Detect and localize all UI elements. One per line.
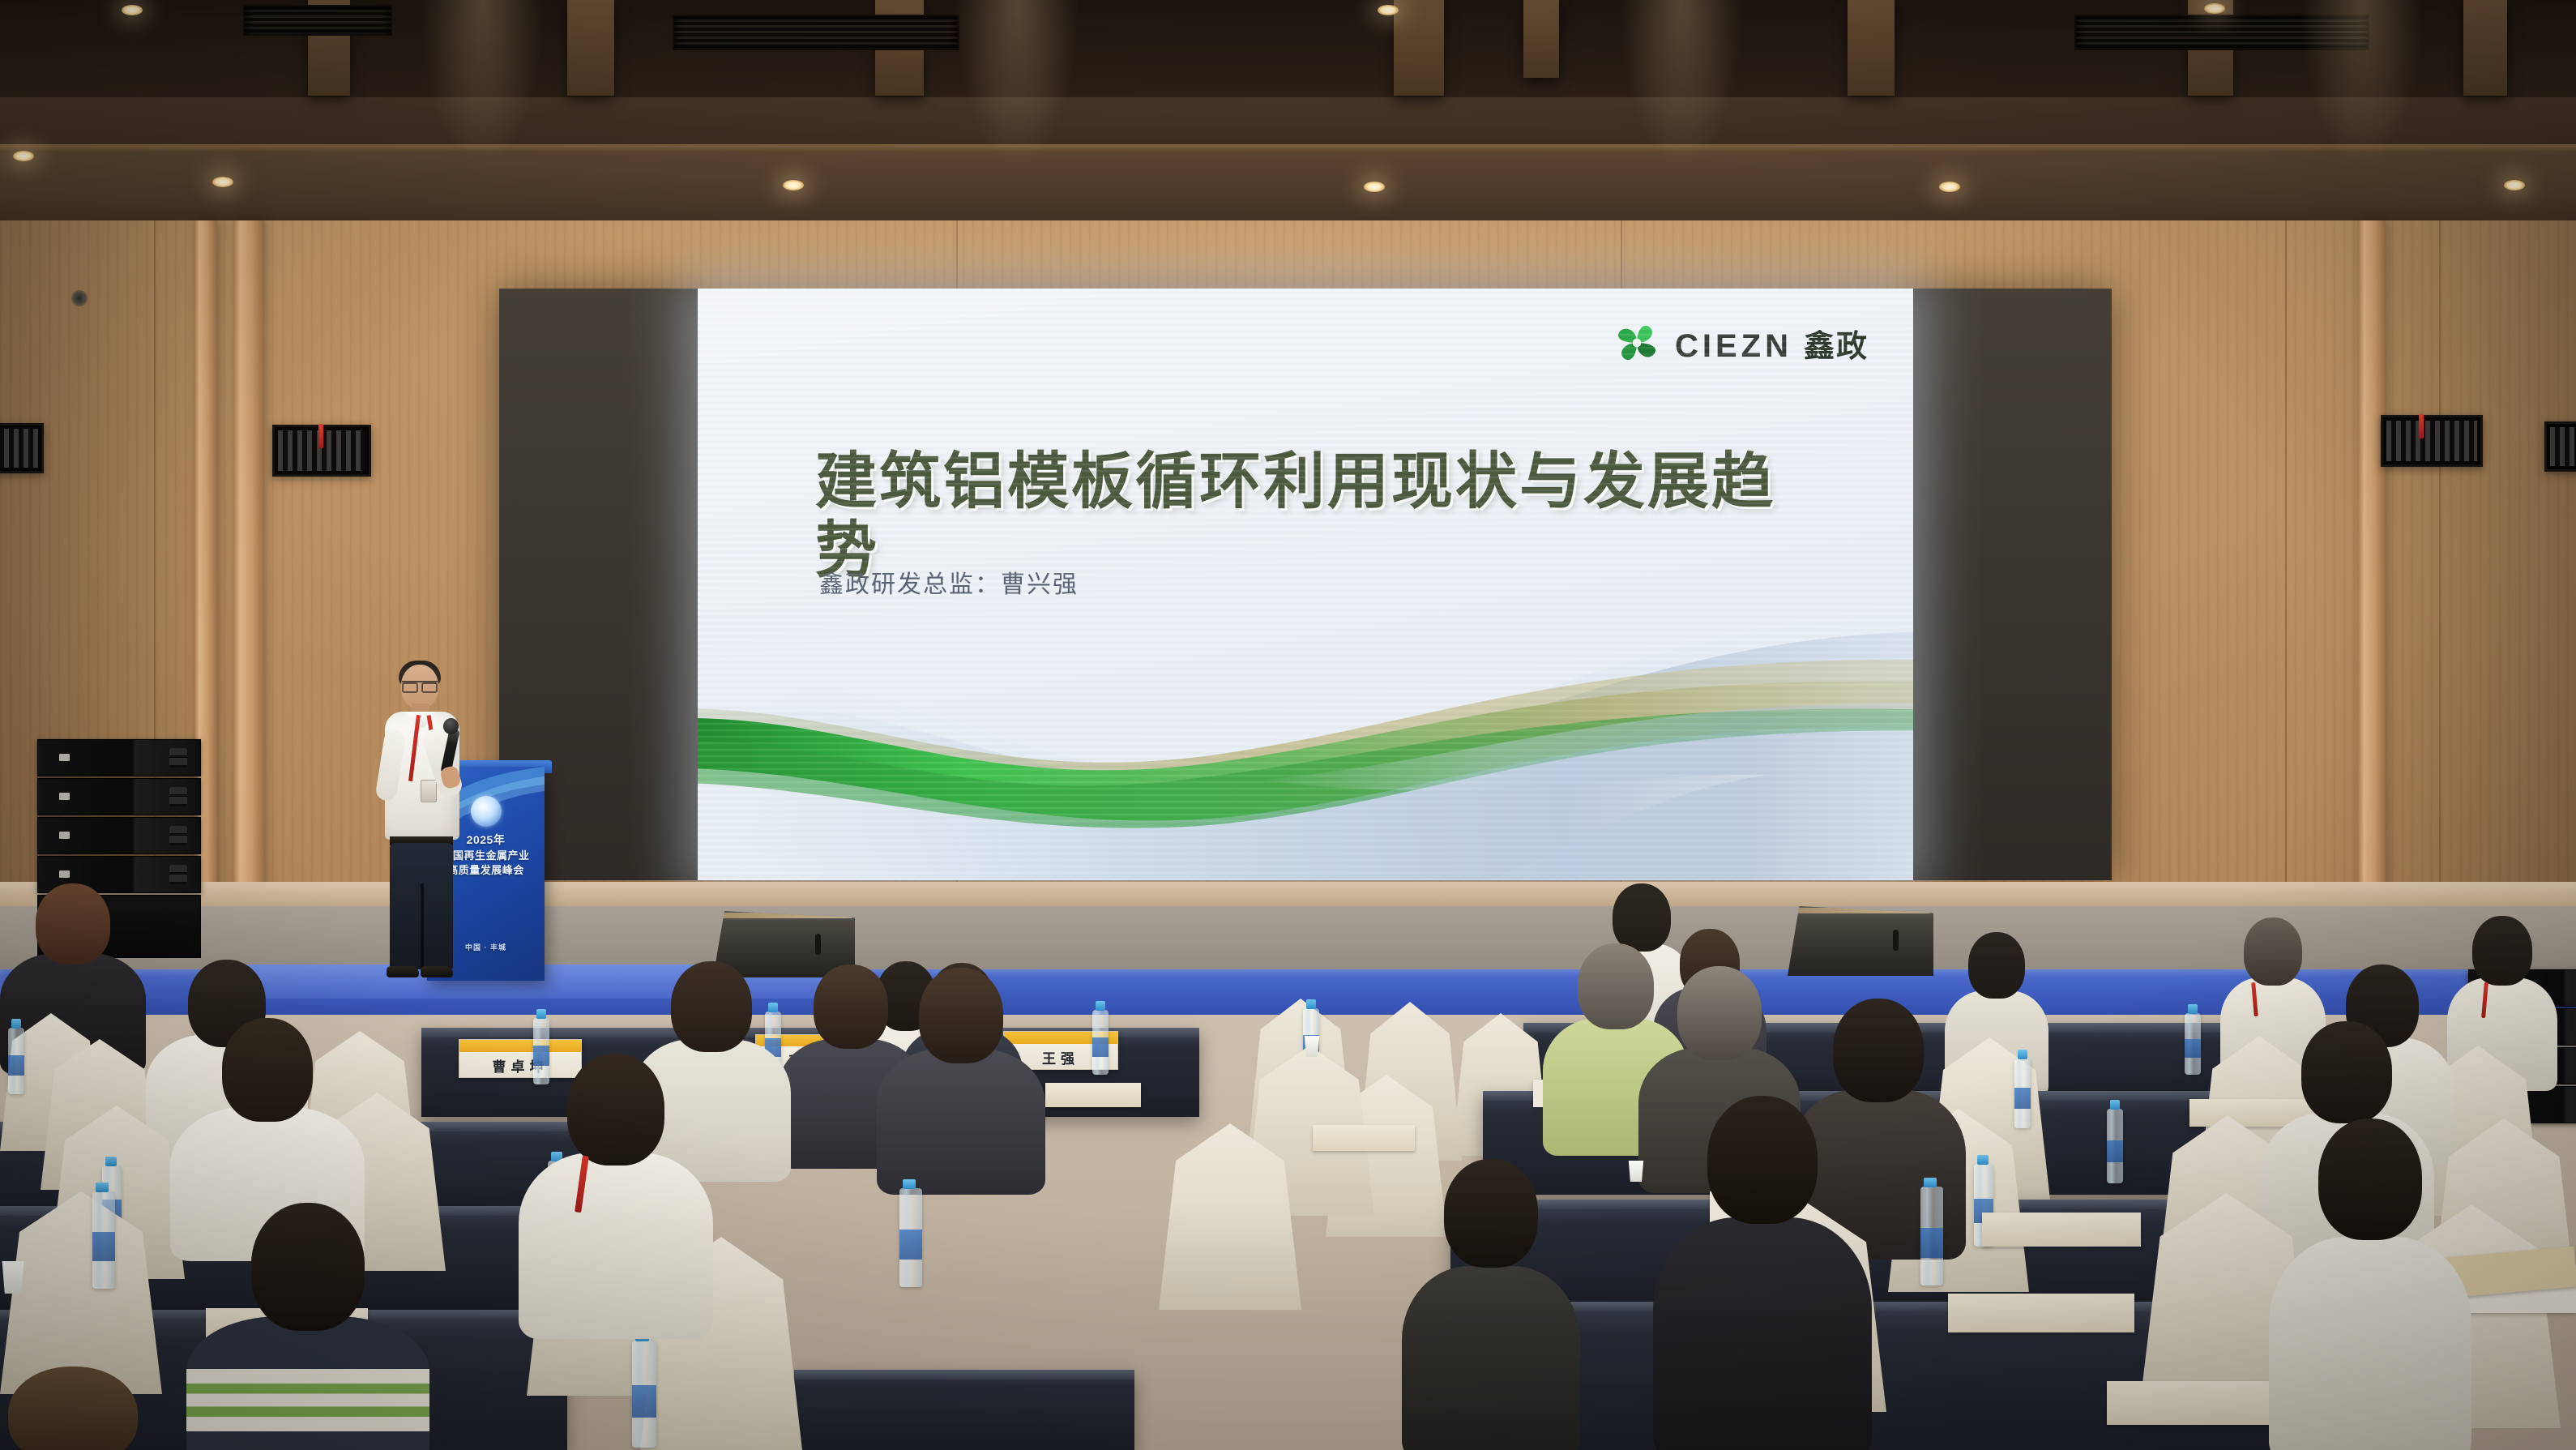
water-bottle	[2185, 1013, 2201, 1075]
ceiling-downlight	[1378, 5, 1399, 15]
water-bottle	[2107, 1109, 2123, 1183]
person-head	[2318, 1119, 2422, 1240]
vent-louvers	[2386, 421, 2477, 461]
wall-pilaster	[233, 220, 264, 926]
ceiling-beam	[1394, 0, 1444, 96]
person-torso	[877, 1049, 1045, 1195]
person-head	[1677, 966, 1762, 1060]
presenter	[377, 665, 466, 982]
audience-member	[0, 1367, 146, 1450]
presenter-glasses	[402, 681, 438, 690]
water-bottle	[1920, 1187, 1943, 1285]
notepad	[1982, 1213, 2141, 1247]
bottle-label	[1092, 1037, 1109, 1057]
line-array-module	[37, 817, 201, 854]
slide-wave-graphic	[698, 613, 1913, 880]
bottle-cap	[2018, 1050, 2027, 1059]
person-head	[1707, 1096, 1818, 1224]
person-head	[222, 1018, 313, 1122]
water-bottle	[899, 1188, 922, 1287]
person-torso	[519, 1153, 713, 1339]
ceiling-downlight	[783, 180, 804, 190]
audience-member	[1402, 1159, 1580, 1450]
person-head	[2301, 1021, 2392, 1123]
bottle-cap	[1924, 1178, 1937, 1187]
person-torso	[1402, 1266, 1580, 1450]
bottle-cap	[2110, 1100, 2120, 1110]
audience-member	[2447, 916, 2557, 1078]
notepad	[1313, 1125, 1415, 1151]
wall-ceiling-speaker-icon	[71, 290, 88, 306]
audience-table	[794, 1370, 1134, 1450]
bottle-label	[899, 1230, 922, 1260]
presenter-shoe	[421, 966, 453, 977]
monitor-handle-slot	[1893, 930, 1899, 951]
bottle-cap	[2188, 1004, 2198, 1014]
logo-latin-text: CIEZN	[1675, 328, 1792, 365]
vent-ribbon	[2419, 414, 2424, 438]
ceiling-downlight	[1364, 182, 1385, 192]
bottle-cap	[11, 1019, 21, 1029]
conference-hall-scene: CIEZN 鑫政 建筑铝模板循环利用现状与发展趋势 鑫政研发总监：曹兴强	[0, 0, 2576, 1450]
monitor-handle-slot	[815, 934, 821, 955]
vent-ribbon	[318, 424, 323, 448]
bottle-cap	[1977, 1155, 1989, 1165]
bottle-cap	[536, 1009, 546, 1019]
bottle-label	[2107, 1140, 2123, 1163]
ceiling-downlight	[212, 177, 233, 187]
bottle-cap	[105, 1157, 117, 1166]
ceiling-vent	[673, 15, 959, 50]
person-head	[36, 883, 110, 965]
ceiling-vent	[2074, 15, 2369, 50]
person-head	[1444, 1159, 1538, 1268]
placard-header-strip	[459, 1040, 581, 1052]
water-bottle	[2014, 1059, 2031, 1128]
audience-member	[1653, 1096, 1872, 1450]
wall-air-vent	[272, 425, 371, 477]
vent-louvers	[2550, 427, 2576, 466]
line-array-module	[37, 739, 201, 776]
stage-monitor-right	[1788, 906, 1933, 976]
led-screen: CIEZN 鑫政 建筑铝模板循环利用现状与发展趋势 鑫政研发总监：曹兴强	[499, 289, 2112, 880]
ceiling-beam	[1523, 0, 1559, 78]
slide-logo: CIEZN 鑫政	[1612, 318, 1869, 368]
presenter-badge	[421, 780, 437, 802]
person-head	[2472, 916, 2532, 986]
audience-member	[877, 968, 1045, 1180]
soffit	[0, 151, 2576, 232]
bottle-label	[92, 1232, 115, 1261]
notepad	[1948, 1294, 2134, 1332]
wall-panel-seam	[2285, 220, 2287, 926]
person-head	[1968, 932, 2025, 999]
bottle-label	[1920, 1228, 1943, 1258]
bottle-cap	[96, 1183, 109, 1192]
wall-air-vent	[0, 423, 44, 473]
ceiling-downlight	[2204, 3, 2225, 14]
audience-member	[519, 1054, 713, 1321]
person-head	[919, 968, 1003, 1063]
notepad	[1045, 1083, 1141, 1107]
audience-member	[2269, 1119, 2471, 1450]
ciezn-pinwheel-logo-icon	[1612, 318, 1662, 368]
ceiling-beam	[2463, 0, 2507, 96]
person-head	[251, 1203, 365, 1331]
cmra-emblem-icon	[471, 796, 502, 827]
ceiling-downlight	[1939, 182, 1960, 192]
ceiling-vent	[243, 5, 392, 36]
bottle-cap	[1096, 1001, 1105, 1011]
wall-air-vent	[2544, 421, 2576, 472]
vent-louvers	[0, 429, 38, 468]
ceiling-beam	[567, 0, 614, 96]
wall-panel-seam	[2439, 220, 2441, 926]
bottle-cap	[1306, 999, 1316, 1009]
presenter-shoe	[387, 966, 419, 977]
screen-bezel-right	[1913, 289, 2112, 880]
person-head	[567, 1054, 664, 1166]
audience-member	[186, 1203, 429, 1450]
logo-chinese-text: 鑫政	[1804, 321, 1869, 366]
slide-subtitle: 鑫政研发总监：曹兴强	[819, 564, 1079, 600]
presenter-leg-split	[421, 883, 424, 971]
person-head	[8, 1367, 138, 1450]
water-bottle	[92, 1191, 115, 1289]
bottle-label	[632, 1385, 656, 1418]
person-torso	[186, 1316, 429, 1450]
person-head	[671, 961, 752, 1052]
ceiling-downlight	[122, 5, 143, 15]
ceiling-downlight	[13, 151, 34, 161]
wall-air-vent	[2381, 415, 2483, 467]
ceiling-beam	[1848, 0, 1895, 96]
line-array-module	[37, 778, 201, 815]
placard-name: 王强	[1042, 1047, 1079, 1067]
person-torso	[1653, 1217, 1872, 1450]
bottle-label	[2014, 1088, 2031, 1109]
bottle-label	[8, 1055, 24, 1076]
person-head	[1833, 999, 1924, 1102]
bottle-cap	[903, 1179, 916, 1189]
logo-wordmark: CIEZN 鑫政	[1675, 321, 1869, 366]
presentation-slide: CIEZN 鑫政 建筑铝模板循环利用现状与发展趋势 鑫政研发总监：曹兴强	[698, 289, 1913, 880]
person-torso	[2269, 1237, 2471, 1450]
water-bottle	[8, 1028, 24, 1094]
water-bottle	[1092, 1010, 1109, 1075]
person-head	[2244, 917, 2302, 986]
bottle-label	[2185, 1039, 2201, 1058]
table-edge	[794, 1370, 1134, 1379]
wall-pilaster	[2358, 220, 2386, 926]
ceiling-downlight	[2504, 180, 2525, 190]
water-bottle	[632, 1341, 656, 1448]
